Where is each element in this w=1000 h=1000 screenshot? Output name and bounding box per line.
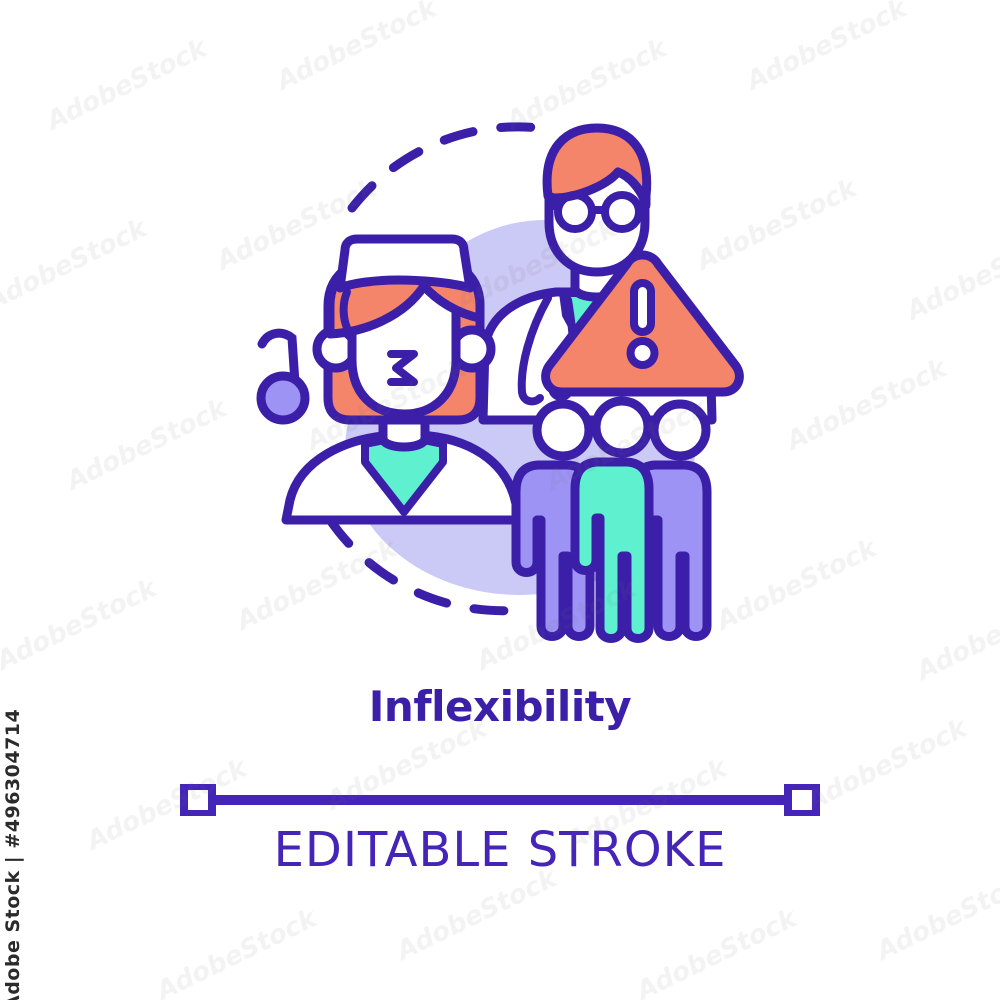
people-group-icon [516, 401, 707, 639]
exclamation-bar [634, 283, 651, 332]
stroke-endpoint-right[interactable] [788, 786, 816, 814]
stock-watermark-id: Adobe Stock | #496304714 [2, 750, 32, 1000]
music-note-icon [261, 333, 305, 420]
editable-stroke-sample [180, 784, 820, 816]
nurse-hair-strand [344, 292, 347, 328]
exclamation-dot [631, 341, 655, 365]
page-title: Inflexibility [0, 686, 1000, 728]
nurse-cap [340, 239, 470, 288]
stroke-endpoint-left[interactable] [184, 786, 212, 814]
editable-stroke-label: EDITABLE STROKE [0, 826, 1000, 874]
screenshot-canvas: Inflexibility EDITABLE STROKE Adobe Stoc… [0, 0, 1000, 1000]
